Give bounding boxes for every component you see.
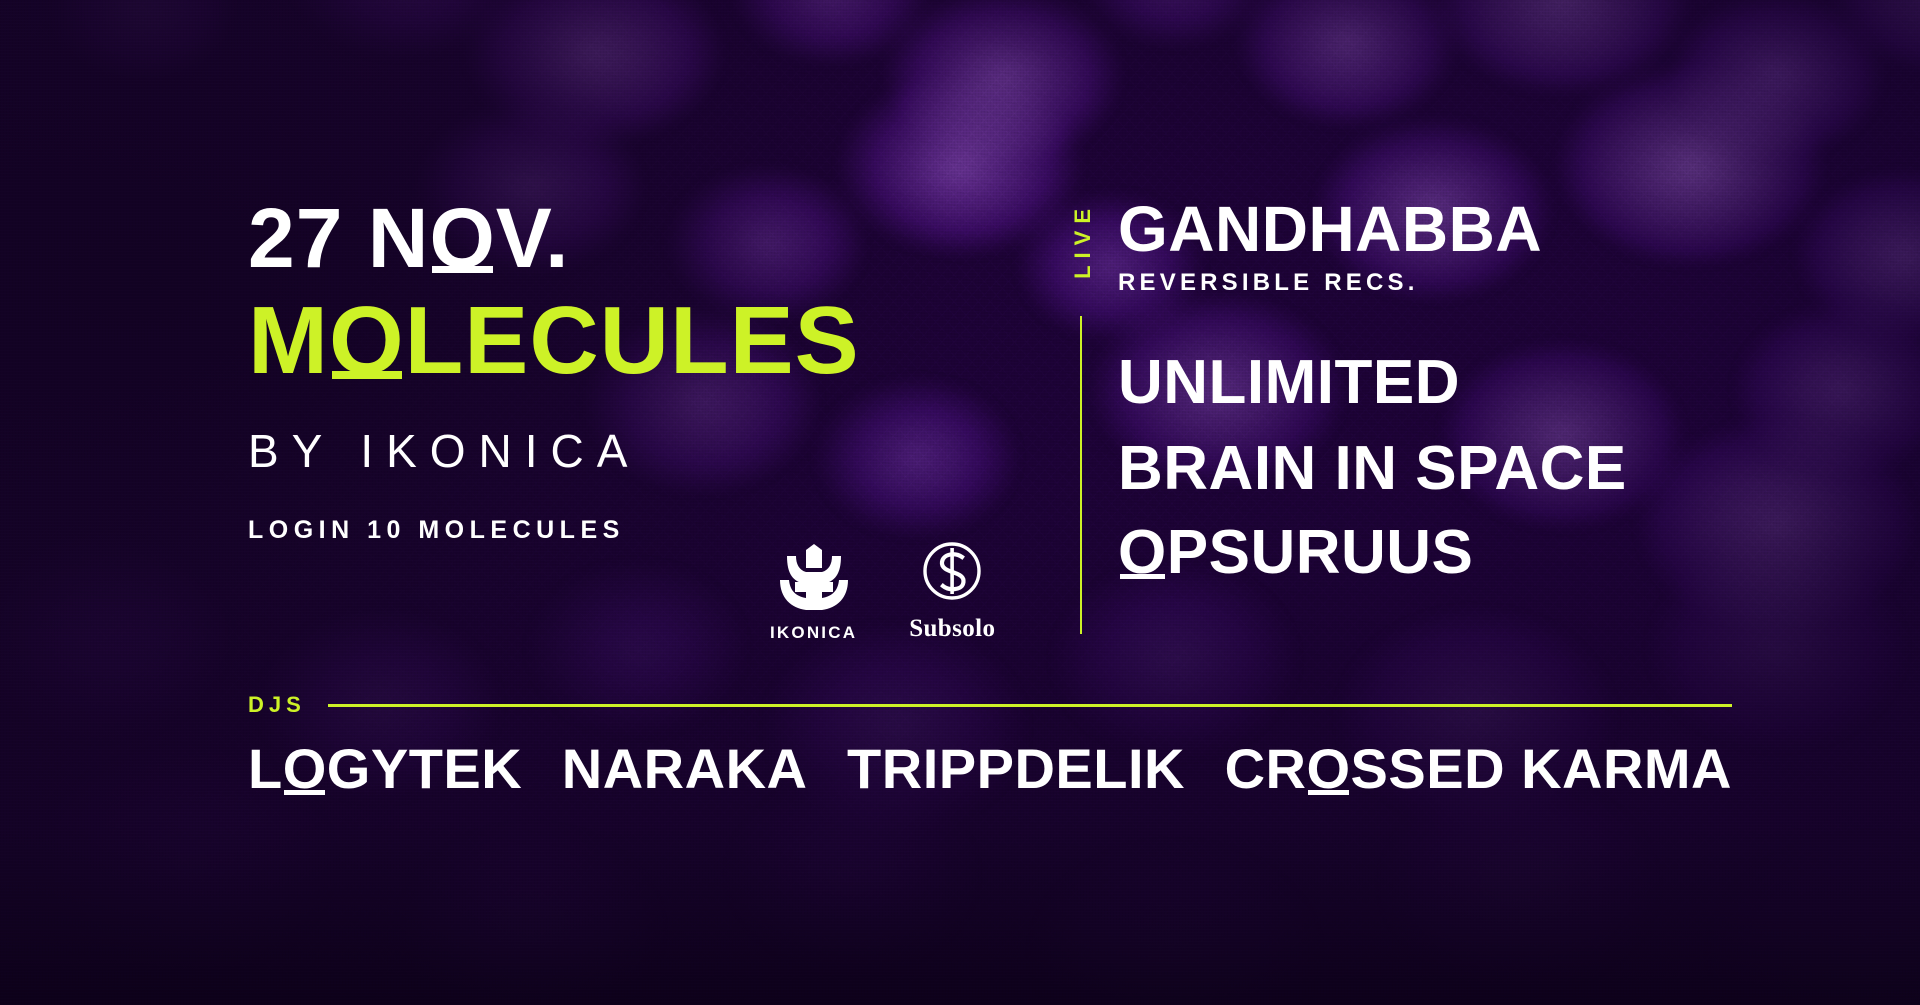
live-act-gandhabba: GANDHABBA [1118,196,1830,263]
ikonica-wordmark: IKONICA [770,623,857,643]
dj-logytek-part-1: L [248,737,283,800]
event-date-o-glyph: O [429,196,495,282]
logo-subsolo[interactable]: Subsolo [909,540,995,643]
live-divider-line [1080,316,1082,634]
live-lineup-block: LIVE GANDHABBA REVERSIBLE RECS. UNLIMITE… [1070,196,1830,586]
live-acts-list: GANDHABBA REVERSIBLE RECS. UNLIMITED BRA… [1118,196,1830,586]
live-act-gandhabba-label: REVERSIBLE RECS. [1118,269,1830,297]
live-act-opsuruus-part-2: PSURUUS [1167,518,1474,587]
live-act-opsuruus-o-glyph: O [1118,521,1167,585]
event-date-part-1: 27 N [248,191,429,285]
dj-crossed-karma-part-2: SSED KARMA [1351,737,1732,800]
live-act-opsuruus: OPSURUUS [1118,521,1830,585]
partner-logos: IKONICA Subsolo [770,540,995,643]
headline-block: 27 NOV. MOLECULES BY IKONICA LOGIN 10 MO… [248,196,1028,545]
dj-trippdelik: TRIPPDELIK [847,736,1185,801]
live-act-brain-in-space: BRAIN IN SPACE [1118,437,1830,501]
djs-list: LOGYTEK NARAKA TRIPPDELIK CROSSED KARMA [248,736,1732,801]
dj-crossed-karma-o-glyph: O [1306,736,1350,801]
subsolo-circle-s-icon [921,540,983,607]
dj-crossed-karma: CROSSED KARMA [1225,736,1732,801]
djs-label: DJS [248,692,306,718]
dj-logytek: LOGYTEK [248,736,522,801]
event-title: MOLECULES [248,292,1028,390]
dj-crossed-karma-part-1: CR [1225,737,1307,800]
dj-logytek-o-glyph: O [283,736,327,801]
event-title-part-1: M [248,287,329,394]
dj-naraka: NARAKA [562,736,808,801]
dj-logytek-part-2: GYTEK [327,737,522,800]
event-title-part-2: LECULES [405,287,860,394]
djs-section-header: DJS [248,692,1732,718]
subsolo-wordmark: Subsolo [909,615,995,643]
event-date-part-2: V. [496,191,570,285]
event-flyer-poster: 27 NOV. MOLECULES BY IKONICA LOGIN 10 MO… [0,0,1920,1005]
live-act-unlimited: UNLIMITED [1118,351,1830,415]
djs-divider-line [328,704,1732,707]
live-label: LIVE [1070,202,1096,279]
event-date: 27 NOV. [248,196,1028,282]
logo-ikonica[interactable]: IKONICA [770,544,857,643]
event-title-o-glyph: O [329,292,405,390]
ikonica-trident-icon [775,544,853,615]
event-presenter: BY IKONICA [248,424,1028,478]
